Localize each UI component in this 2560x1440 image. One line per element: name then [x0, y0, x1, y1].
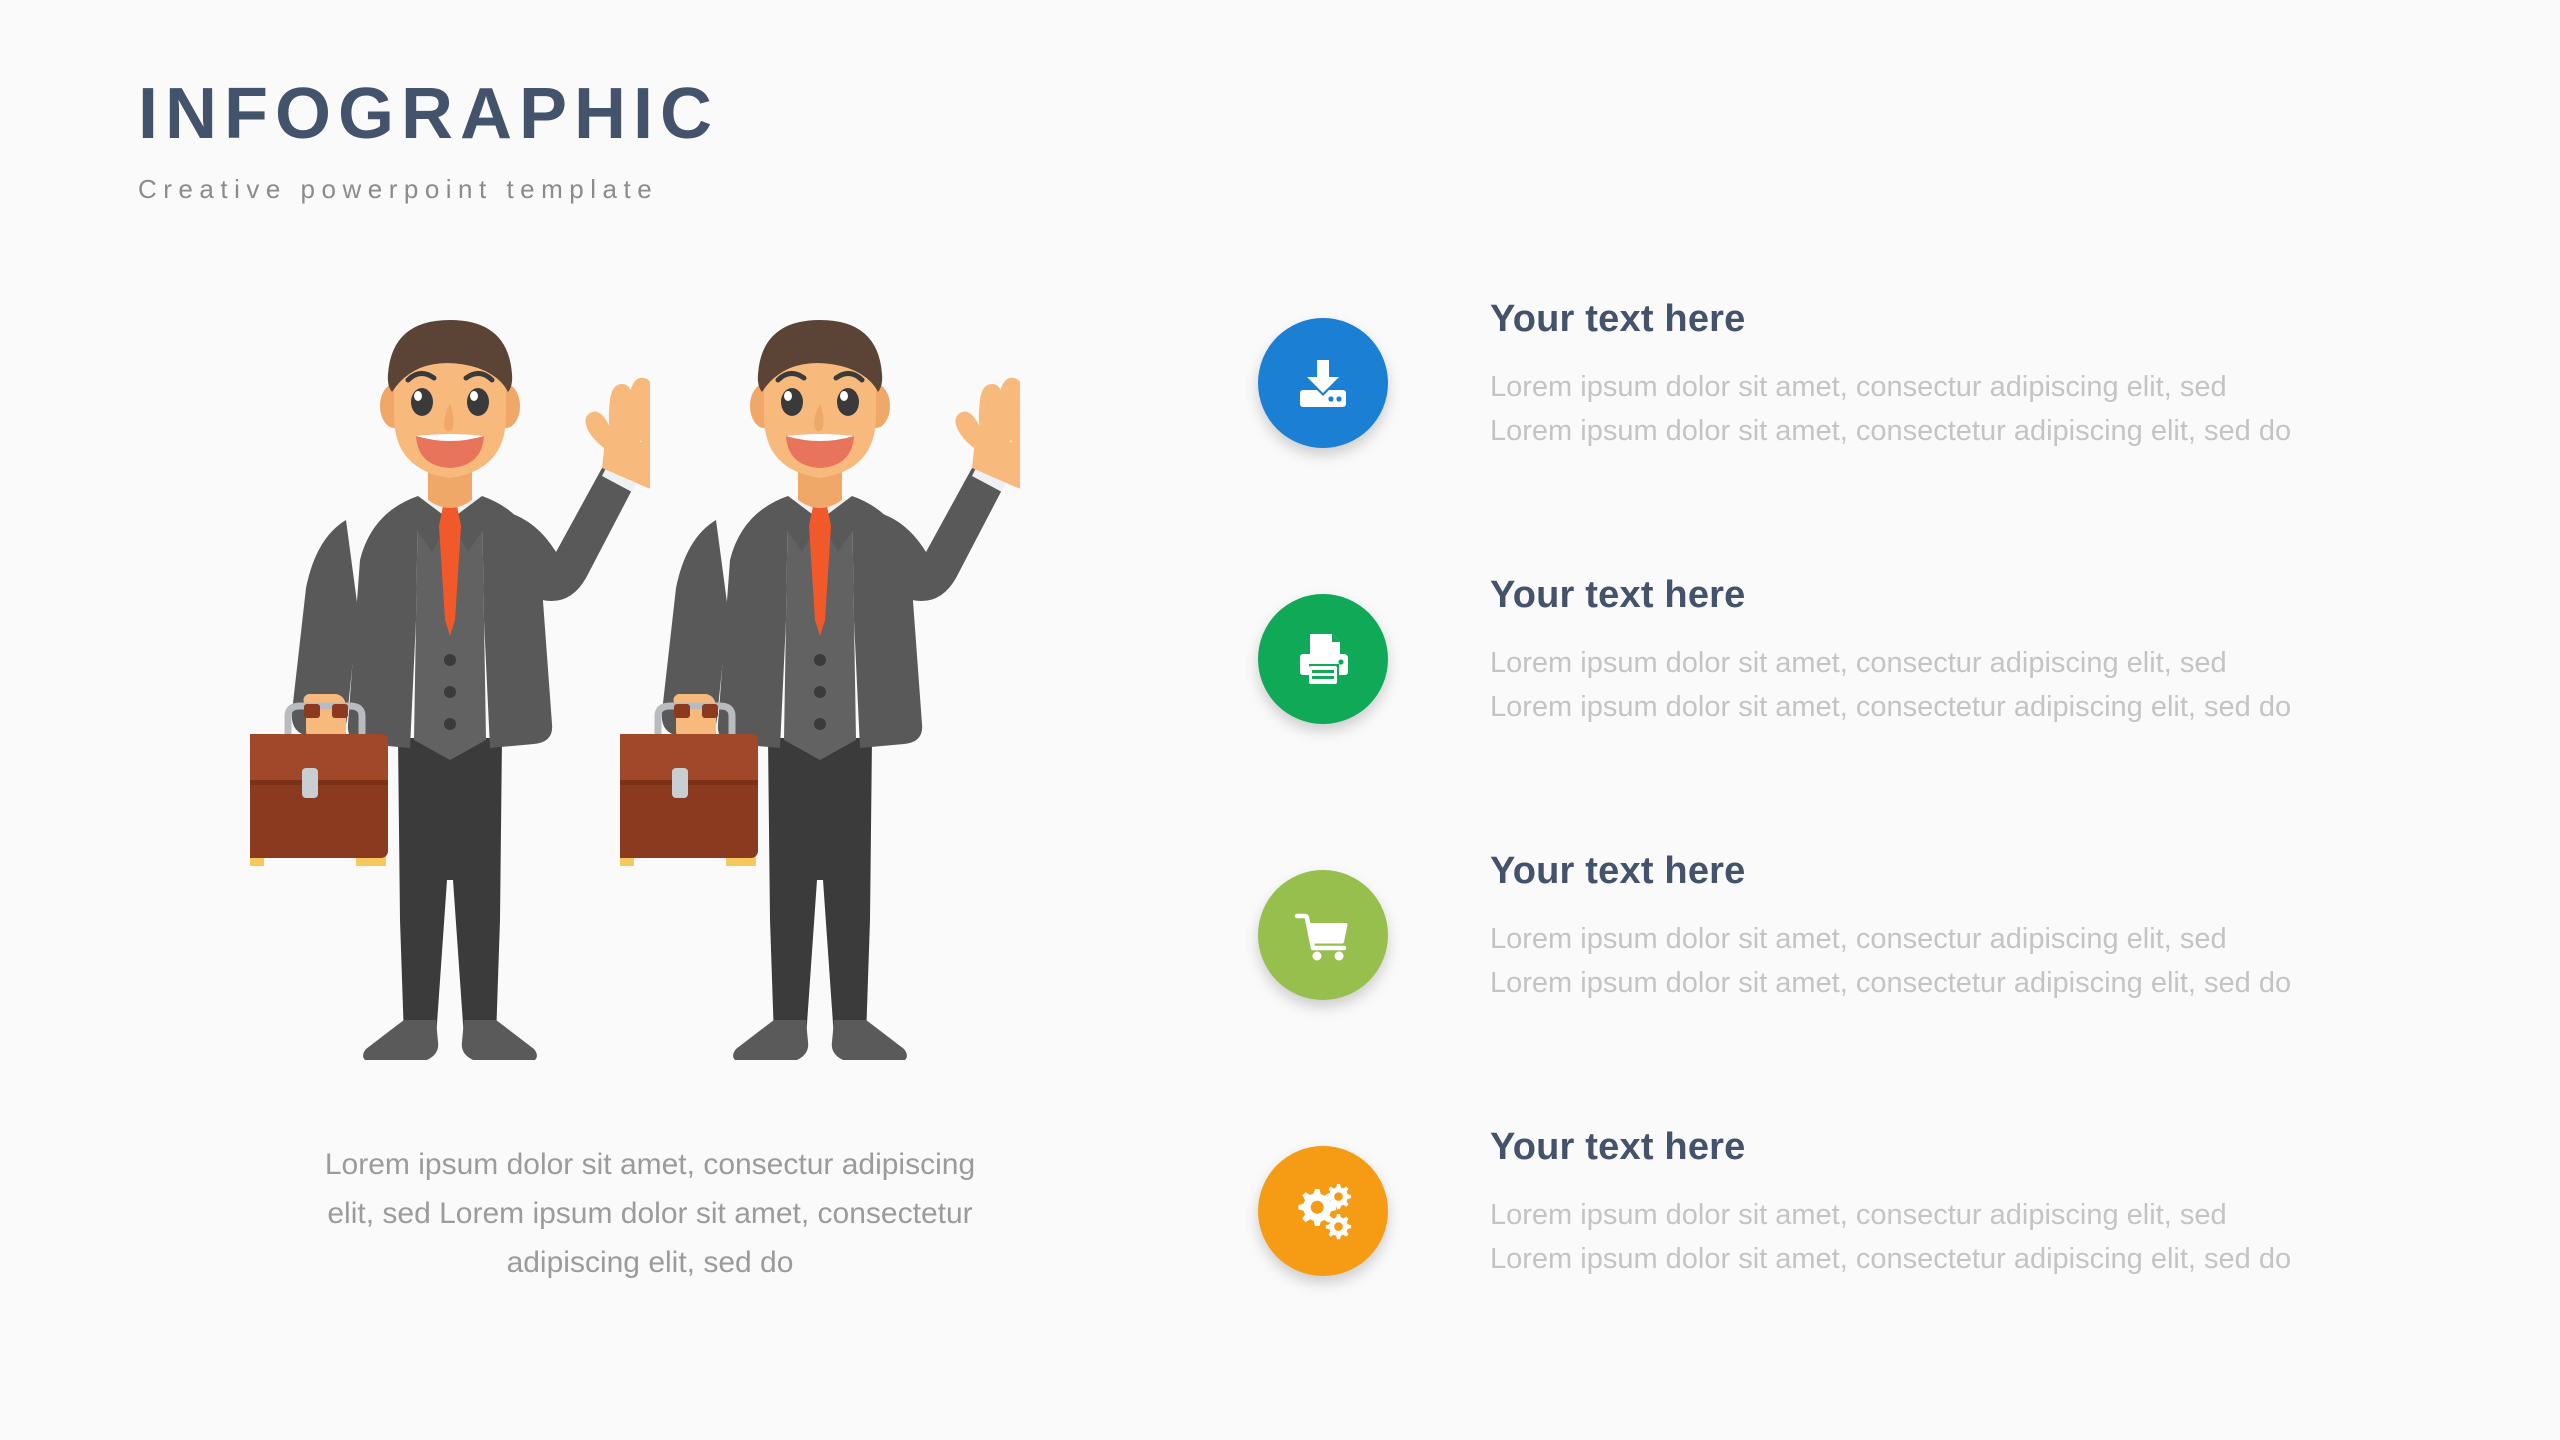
list-item-heading: Your text here [1490, 1118, 2500, 1166]
icon-badge-download[interactable] [1258, 318, 1388, 448]
page-title: INFOGRAPHIC [138, 78, 1138, 150]
shopping-cart-icon [1292, 904, 1354, 966]
list-item-heading: Your text here [1490, 842, 2500, 890]
list-item-description: Lorem ipsum dolor sit amet, consectur ad… [1490, 1166, 2500, 1281]
list-item-description: Lorem ipsum dolor sit amet, consectur ad… [1490, 614, 2500, 729]
list-item[interactable]: Your text here Lorem ipsum dolor sit ame… [1258, 290, 2498, 566]
gears-icon [1291, 1179, 1355, 1243]
slide-header: INFOGRAPHIC Creative powerpoint template [138, 78, 1138, 202]
businessman-graphic [620, 320, 1020, 1060]
printer-icon [1292, 628, 1354, 690]
list-item-body: Your text here Lorem ipsum dolor sit ame… [1490, 566, 2500, 729]
illustration-caption: Lorem ipsum dolor sit amet, consectur ad… [255, 1140, 1045, 1287]
caption-line: elit, sed Lorem ipsum dolor sit amet, co… [255, 1189, 1045, 1238]
description-line: Lorem ipsum dolor sit amet, consectetur … [1490, 685, 2500, 729]
description-line: Lorem ipsum dolor sit amet, consectur ad… [1490, 365, 2500, 409]
list-item-description: Lorem ipsum dolor sit amet, consectur ad… [1490, 890, 2500, 1005]
list-item-heading: Your text here [1490, 566, 2500, 614]
description-line: Lorem ipsum dolor sit amet, consectur ad… [1490, 641, 2500, 685]
icon-badge-cart[interactable] [1258, 870, 1388, 1000]
businessman-graphic [250, 320, 650, 1060]
page-subtitle: Creative powerpoint template [138, 150, 1138, 202]
description-line: Lorem ipsum dolor sit amet, consectetur … [1490, 409, 2500, 453]
icon-badge-printer[interactable] [1258, 594, 1388, 724]
description-line: Lorem ipsum dolor sit amet, consectur ad… [1490, 917, 2500, 961]
list-item-body: Your text here Lorem ipsum dolor sit ame… [1490, 842, 2500, 1005]
list-item-body: Your text here Lorem ipsum dolor sit ame… [1490, 1118, 2500, 1281]
list-item-description: Lorem ipsum dolor sit amet, consectur ad… [1490, 338, 2500, 453]
businessman-figure-2 [620, 320, 1020, 1060]
list-item[interactable]: Your text here Lorem ipsum dolor sit ame… [1258, 566, 2498, 842]
description-line: Lorem ipsum dolor sit amet, consectetur … [1490, 1237, 2500, 1281]
caption-line: Lorem ipsum dolor sit amet, consectur ad… [255, 1140, 1045, 1189]
list-item[interactable]: Your text here Lorem ipsum dolor sit ame… [1258, 1118, 2498, 1394]
businessmen-illustration [250, 320, 1050, 1060]
feature-list: Your text here Lorem ipsum dolor sit ame… [1258, 290, 2498, 1394]
list-item-body: Your text here Lorem ipsum dolor sit ame… [1490, 290, 2500, 453]
description-line: Lorem ipsum dolor sit amet, consectur ad… [1490, 1193, 2500, 1237]
description-line: Lorem ipsum dolor sit amet, consectetur … [1490, 961, 2500, 1005]
list-item-heading: Your text here [1490, 290, 2500, 338]
list-item[interactable]: Your text here Lorem ipsum dolor sit ame… [1258, 842, 2498, 1118]
icon-badge-gears[interactable] [1258, 1146, 1388, 1276]
infographic-slide: INFOGRAPHIC Creative powerpoint template [0, 0, 2560, 1440]
businessman-figure-1 [250, 320, 650, 1060]
caption-line: adipiscing elit, sed do [255, 1238, 1045, 1287]
download-icon [1292, 352, 1354, 414]
